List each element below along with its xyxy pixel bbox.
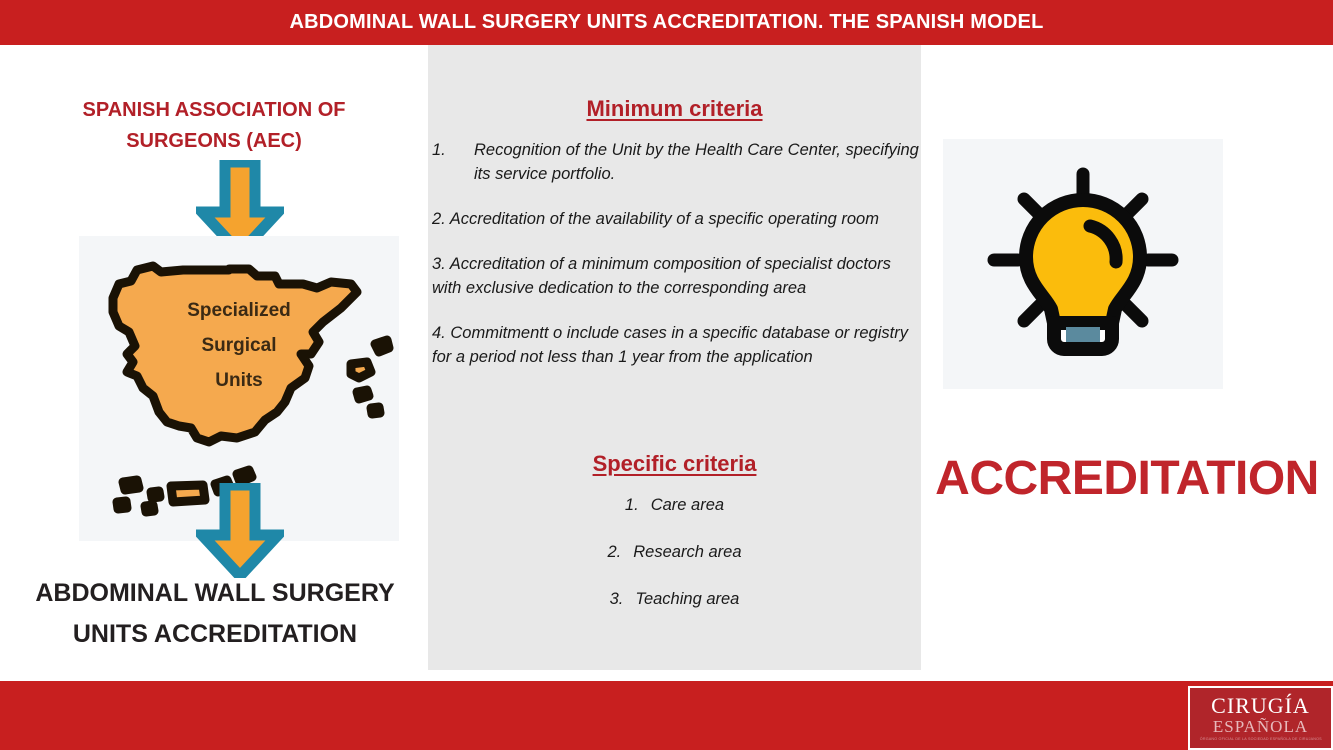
- list-item-text: Research area: [633, 543, 741, 561]
- list-item-text: Teaching area: [635, 590, 739, 608]
- footer-bar: [0, 681, 1333, 750]
- center-panel: Minimum criteria 1.Recognition of the Un…: [428, 45, 921, 670]
- slide-root: ABDOMINAL WALL SURGERY UNITS ACCREDITATI…: [0, 0, 1333, 750]
- list-item-number: 3.: [432, 255, 446, 273]
- right-column: ACCREDITATION: [921, 45, 1333, 670]
- logo-subtitle: ESPAÑOLA: [1213, 717, 1308, 736]
- list-item-number: 4.: [432, 324, 446, 342]
- list-item-text: Accreditation of a minimum composition o…: [432, 255, 891, 297]
- list-item-text: Commitmentt o include cases in a specifi…: [432, 324, 908, 366]
- cirugia-espanola-logo: CIRUGÍA ESPAÑOLA ÓRGANO OFICIAL DE LA SO…: [1188, 686, 1333, 750]
- left-column: SPANISH ASSOCIATION OF SURGEONS (AEC): [0, 45, 428, 670]
- list-item: 1.Recognition of the Unit by the Health …: [432, 138, 921, 186]
- list-item-number: 2.: [608, 543, 622, 561]
- slide-title-bar: ABDOMINAL WALL SURGERY UNITS ACCREDITATI…: [0, 0, 1333, 45]
- list-item: 2. Accreditation of the availability of …: [432, 207, 921, 231]
- minimum-criteria-title: Minimum criteria: [428, 96, 921, 122]
- organization-heading-line2: SURGEONS (AEC): [20, 126, 408, 157]
- lightbulb-icon: [943, 139, 1223, 389]
- page-title: ABDOMINAL WALL SURGERY UNITS ACCREDITATI…: [289, 11, 1043, 34]
- list-item-number: 3.: [610, 590, 624, 608]
- accreditation-subtitle-line1: ABDOMINAL WALL SURGERY: [10, 573, 420, 614]
- list-item: 4. Commitmentt o include cases in a spec…: [432, 321, 921, 369]
- list-item: 2.Research area: [428, 540, 921, 564]
- organization-heading: SPANISH ASSOCIATION OF SURGEONS (AEC): [20, 95, 408, 157]
- minimum-criteria-list: 1.Recognition of the Unit by the Health …: [432, 138, 921, 390]
- down-arrow-icon: [196, 483, 284, 578]
- list-item-text: Care area: [651, 496, 724, 514]
- accreditation-subtitle: ABDOMINAL WALL SURGERY UNITS ACCREDITATI…: [10, 573, 420, 655]
- list-item-number: 1.: [432, 138, 474, 162]
- list-item: 3.Teaching area: [428, 587, 921, 611]
- logo-caption: ÓRGANO OFICIAL DE LA SOCIEDAD ESPAÑOLA D…: [1199, 736, 1321, 742]
- list-item-number: 2.: [432, 210, 446, 228]
- list-item: 1.Care area: [428, 493, 921, 517]
- list-item: 3. Accreditation of a minimum compositio…: [432, 252, 921, 300]
- list-item-text: Accreditation of the availability of a s…: [450, 210, 879, 228]
- logo-title: CIRUGÍA: [1211, 694, 1310, 717]
- accreditation-subtitle-line2: UNITS ACCREDITATION: [10, 614, 420, 655]
- specific-criteria-list: 1.Care area 2.Research area 3.Teaching a…: [428, 493, 921, 634]
- specific-criteria-title: Specific criteria: [428, 451, 921, 477]
- accreditation-headline: ACCREDITATION: [921, 451, 1333, 506]
- organization-heading-line1: SPANISH ASSOCIATION OF: [20, 95, 408, 126]
- list-item-text: Recognition of the Unit by the Health Ca…: [474, 141, 919, 183]
- list-item-number: 1.: [625, 496, 639, 514]
